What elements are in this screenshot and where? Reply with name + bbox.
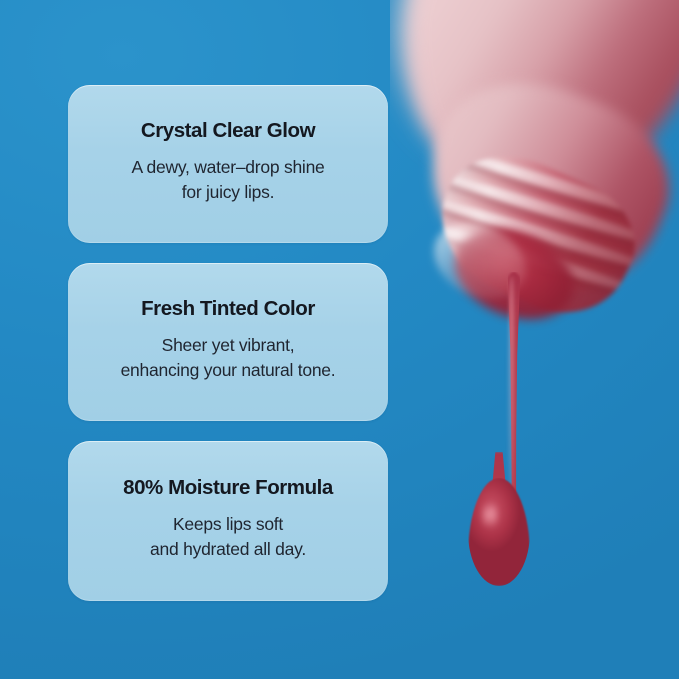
feature-card-body-line: Keeps lips soft — [150, 512, 306, 537]
feature-card-fresh-tinted-color: Fresh Tinted Color Sheer yet vibrant, en… — [68, 263, 388, 421]
feature-card-title: Fresh Tinted Color — [141, 297, 315, 322]
feature-card-title: Crystal Clear Glow — [141, 119, 315, 144]
feature-card-title: 80% Moisture Formula — [123, 476, 333, 501]
feature-card-body-line: enhancing your natural tone. — [121, 358, 336, 383]
feature-card-moisture-formula: 80% Moisture Formula Keeps lips soft and… — [68, 441, 388, 601]
feature-card-body: Keeps lips soft and hydrated all day. — [150, 512, 306, 562]
feature-card-crystal-clear-glow: Crystal Clear Glow A dewy, water–drop sh… — [68, 85, 388, 243]
feature-graphic: Crystal Clear Glow A dewy, water–drop sh… — [0, 0, 679, 679]
feature-card-body-line: and hydrated all day. — [150, 537, 306, 562]
feature-card-body: A dewy, water–drop shine for juicy lips. — [131, 155, 324, 205]
product-photo — [390, 0, 679, 679]
droplet-highlight-icon — [482, 498, 498, 532]
feature-card-body-line: A dewy, water–drop shine — [131, 155, 324, 180]
liquid-droplet-icon — [468, 478, 530, 586]
liquid-strand-highlight-icon — [509, 276, 514, 516]
feature-card-body: Sheer yet vibrant, enhancing your natura… — [121, 333, 336, 383]
feature-card-body-line: Sheer yet vibrant, — [121, 333, 336, 358]
feature-card-list: Crystal Clear Glow A dewy, water–drop sh… — [68, 85, 388, 601]
feature-card-body-line: for juicy lips. — [131, 180, 324, 205]
